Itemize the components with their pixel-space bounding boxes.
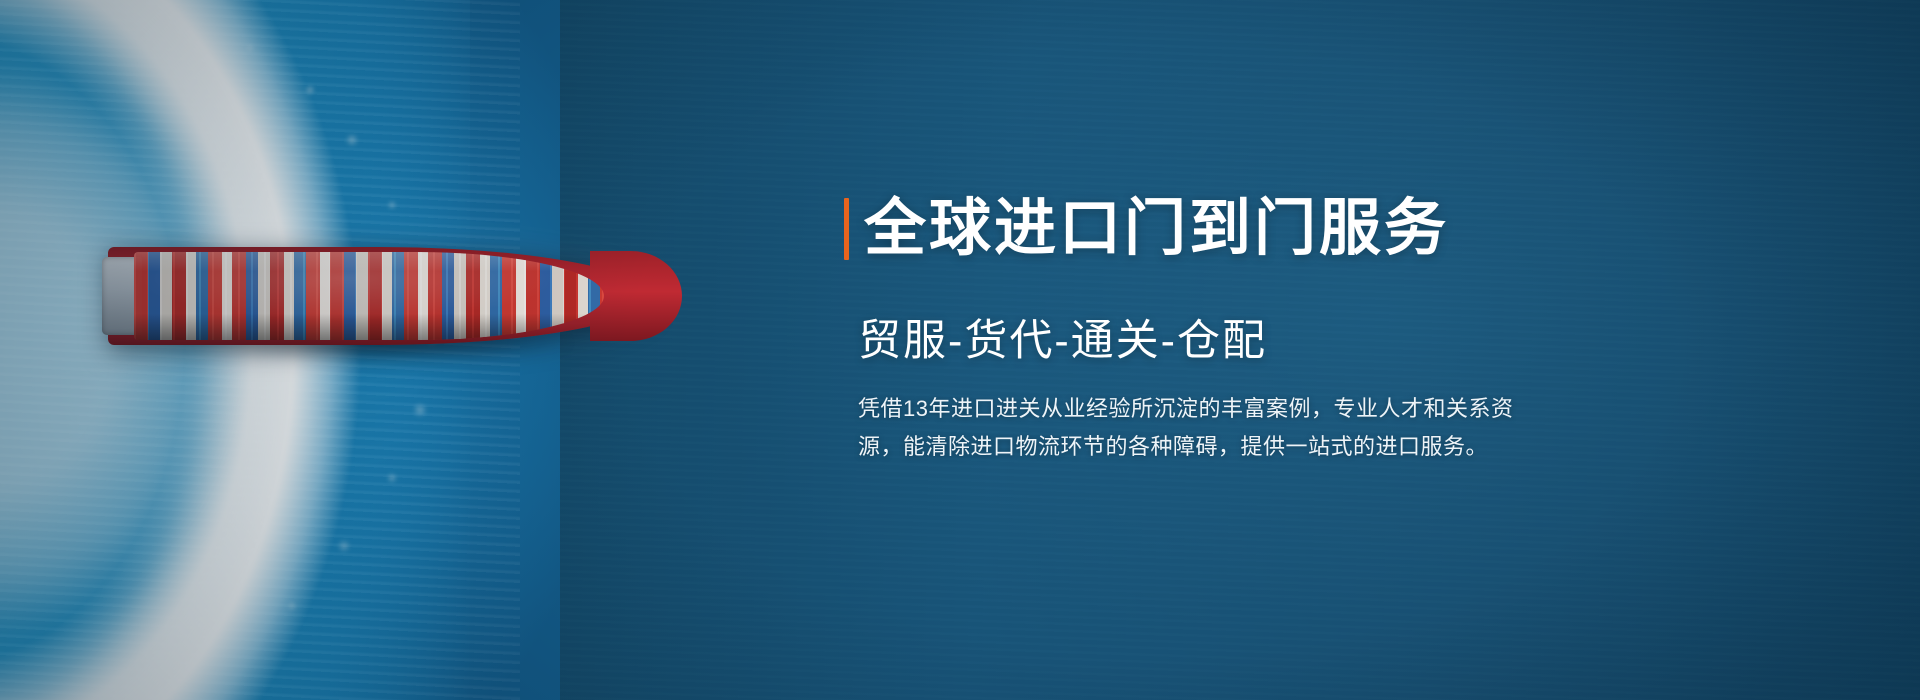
banner-headline: 全球进口门到门服务: [864, 198, 1449, 260]
banner-text-content: 全球进口门到门服务 贸服-货代-通关-仓配 凭借13年进口进关从业经验所沉淀的丰…: [858, 198, 1758, 466]
banner-paragraph: 凭借13年进口进关从业经验所沉淀的丰富案例，专业人才和关系资源，能清除进口物流环…: [858, 390, 1558, 466]
accent-bar: [844, 198, 849, 260]
headline-row: 全球进口门到门服务: [844, 198, 1758, 260]
banner-subheadline: 贸服-货代-通关-仓配: [858, 306, 1758, 368]
hero-banner: 全球进口门到门服务 贸服-货代-通关-仓配 凭借13年进口进关从业经验所沉淀的丰…: [0, 0, 1920, 700]
